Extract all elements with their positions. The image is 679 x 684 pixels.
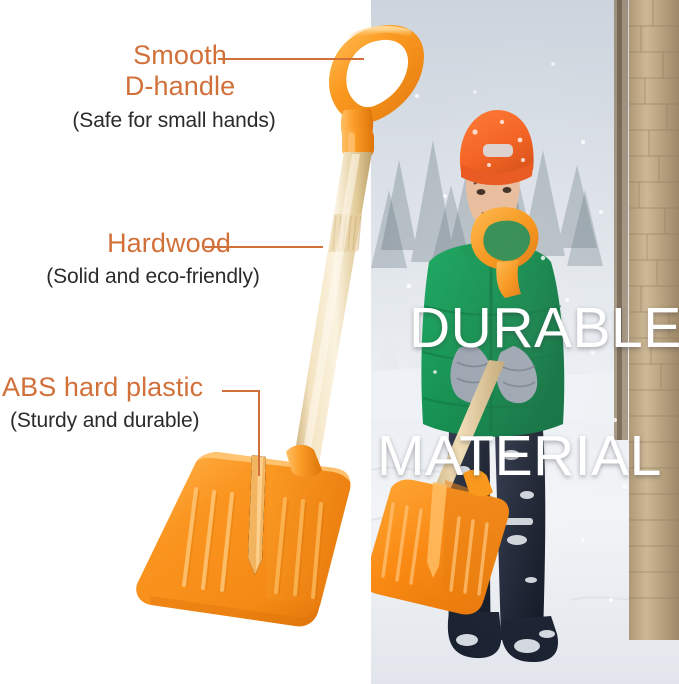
overlay-text-material: MATERIAL <box>377 428 662 485</box>
lifestyle-photo: DURABLE MATERIAL <box>371 0 679 684</box>
callout-subtitle-hardwood: (Solid and eco-friendly) <box>0 264 300 289</box>
overlay-text-durable: DURABLE <box>409 300 679 357</box>
callout-title-hardwood: Hardwood <box>0 228 300 259</box>
callout-subtitle-d-handle: (Safe for small hands) <box>0 108 330 133</box>
callout-title-abs: ABS hard plastic <box>0 372 268 403</box>
callout-subtitle-abs: (Sturdy and durable) <box>0 408 268 433</box>
product-infographic: Smooth D-handle (Safe for small hands) H… <box>0 0 679 684</box>
callout-hardwood: Hardwood (Solid and eco-friendly) <box>0 228 300 290</box>
callout-title-d-handle: Smooth D-handle <box>0 40 330 103</box>
callout-smooth-d-handle: Smooth D-handle (Safe for small hands) <box>0 40 330 133</box>
callout-abs-hard-plastic: ABS hard plastic (Sturdy and durable) <box>0 372 268 434</box>
